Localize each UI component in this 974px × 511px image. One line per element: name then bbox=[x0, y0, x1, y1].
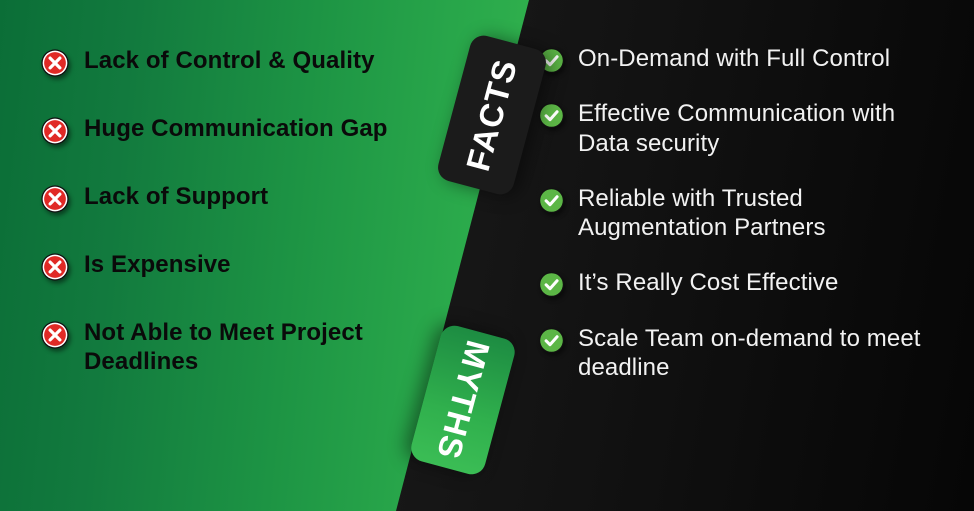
facts-badge-label: FACTS bbox=[459, 55, 525, 175]
comparison-infographic: Lack of Control & Quality Huge Communica… bbox=[0, 0, 974, 511]
list-item-label: Effective Communication with Data securi… bbox=[578, 99, 928, 158]
cross-circle-icon bbox=[40, 184, 70, 214]
list-item: Not Able to Meet Project Deadlines bbox=[40, 318, 430, 377]
check-circle-icon bbox=[538, 271, 565, 298]
list-item: Huge Communication Gap bbox=[40, 114, 430, 144]
cross-circle-icon bbox=[40, 320, 70, 350]
list-item: Lack of Support bbox=[40, 182, 430, 212]
list-item: Effective Communication with Data securi… bbox=[538, 99, 960, 158]
check-circle-icon bbox=[538, 327, 565, 354]
check-circle-icon bbox=[538, 187, 565, 214]
myths-list: Lack of Control & Quality Huge Communica… bbox=[0, 46, 430, 415]
list-item-label: Not Able to Meet Project Deadlines bbox=[84, 318, 424, 377]
list-item-label: Huge Communication Gap bbox=[84, 114, 388, 143]
myths-badge-label: MYTHS bbox=[429, 336, 497, 463]
cross-circle-icon bbox=[40, 116, 70, 146]
myths-column: Lack of Control & Quality Huge Communica… bbox=[0, 0, 430, 511]
list-item: It’s Really Cost Effective bbox=[538, 268, 960, 297]
list-item-label: Scale Team on-demand to meet deadline bbox=[578, 324, 928, 383]
list-item-label: On-Demand with Full Control bbox=[578, 44, 890, 73]
list-item-label: It’s Really Cost Effective bbox=[578, 268, 838, 297]
list-item: Scale Team on-demand to meet deadline bbox=[538, 324, 960, 383]
list-item-label: Lack of Support bbox=[84, 182, 268, 211]
cross-circle-icon bbox=[40, 252, 70, 282]
facts-list: On-Demand with Full Control Effective Co… bbox=[530, 44, 960, 408]
cross-circle-icon bbox=[40, 48, 70, 78]
list-item-label: Reliable with Trusted Augmentation Partn… bbox=[578, 184, 928, 243]
list-item-label: Is Expensive bbox=[84, 250, 231, 279]
list-item: Reliable with Trusted Augmentation Partn… bbox=[538, 184, 960, 243]
list-item: On-Demand with Full Control bbox=[538, 44, 960, 73]
list-item-label: Lack of Control & Quality bbox=[84, 46, 375, 75]
check-circle-icon bbox=[538, 102, 565, 129]
list-item: Is Expensive bbox=[40, 250, 430, 280]
list-item: Lack of Control & Quality bbox=[40, 46, 430, 76]
facts-column: On-Demand with Full Control Effective Co… bbox=[530, 0, 960, 511]
